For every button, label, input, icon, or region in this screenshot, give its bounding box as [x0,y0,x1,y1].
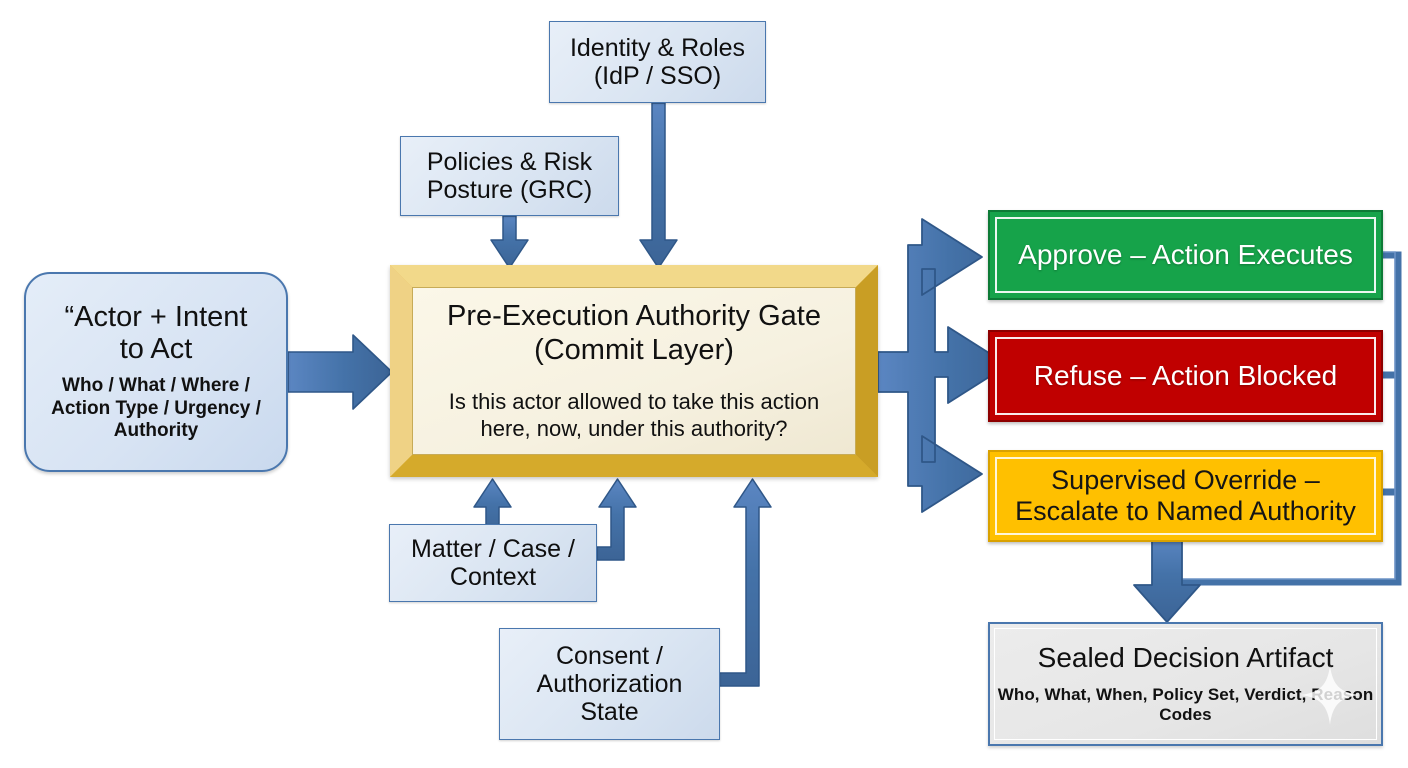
actor-title: “Actor + Intent to Act [65,301,248,366]
matter-line2: Context [450,563,536,591]
gate-title-line1: Pre-Execution Authority Gate [447,300,821,332]
actor-title-line1: “Actor + Intent [65,301,248,333]
gate-question-line2: here, now, under this authority? [481,416,788,441]
sparkle-watermark-icon [1299,664,1361,726]
policies-line1: Policies & Risk [427,148,592,176]
arrow-matter-elbow-to-gate [597,479,636,560]
arrow-identity-to-gate [640,103,677,268]
gate-inner-panel: Pre-Execution Authority Gate (Commit Lay… [412,287,856,455]
actor-subtitle: Who / What / Where / Action Type / Urgen… [51,375,261,443]
gate-title: Pre-Execution Authority Gate (Commit Lay… [447,300,821,367]
override-label-line2: Escalate to Named Authority [1015,496,1356,526]
outcome-approve[interactable]: Approve – Action Executes [988,210,1383,300]
gate-question: Is this actor allowed to take this actio… [449,389,820,442]
artifact-title: Sealed Decision Artifact [1038,643,1334,674]
actor-title-line2: to Act [120,333,193,365]
actor-sub-line3: Authority [114,420,198,441]
consent-line1: Consent / [556,642,663,670]
outcome-refuse[interactable]: Refuse – Action Blocked [988,330,1383,422]
gate-title-line2: (Commit Layer) [534,334,734,366]
approve-label: Approve – Action Executes [1018,239,1353,271]
refuse-label: Refuse – Action Blocked [1034,360,1338,392]
arrow-consent-to-gate [719,479,771,686]
override-label-line1: Supervised Override – [1051,465,1320,495]
arrow-actor-to-gate [288,335,392,409]
actor-sub-line2: Action Type / Urgency / [51,398,261,419]
input-actor-intent[interactable]: “Actor + Intent to Act Who / What / Wher… [24,272,288,472]
consent-line3: State [580,698,638,726]
consent-line2: Authorization [537,670,683,698]
input-consent-authorization[interactable]: Consent / Authorization State [499,628,720,740]
sealed-decision-artifact[interactable]: Sealed Decision Artifact Who, What, When… [988,622,1383,746]
input-identity-roles[interactable]: Identity & Roles (IdP / SSO) [549,21,766,103]
outcome-supervised-override[interactable]: Supervised Override – Escalate to Named … [988,450,1383,542]
identity-line1: Identity & Roles [570,34,745,62]
diagram-canvas: “Actor + Intent to Act Who / What / Wher… [0,0,1408,768]
policies-line2: Posture (GRC) [427,176,592,204]
input-matter-case-context[interactable]: Matter / Case / Context [389,524,597,602]
actor-sub-line1: Who / What / Where / [62,375,250,396]
input-policies-risk[interactable]: Policies & Risk Posture (GRC) [400,136,619,216]
identity-line2: (IdP / SSO) [594,62,721,90]
arrow-policies-to-gate [491,216,528,268]
gate-question-line1: Is this actor allowed to take this actio… [449,389,820,414]
matter-line1: Matter / Case / [411,535,575,563]
override-label: Supervised Override – Escalate to Named … [1015,465,1356,527]
pre-execution-authority-gate[interactable]: Pre-Execution Authority Gate (Commit Lay… [390,265,878,477]
